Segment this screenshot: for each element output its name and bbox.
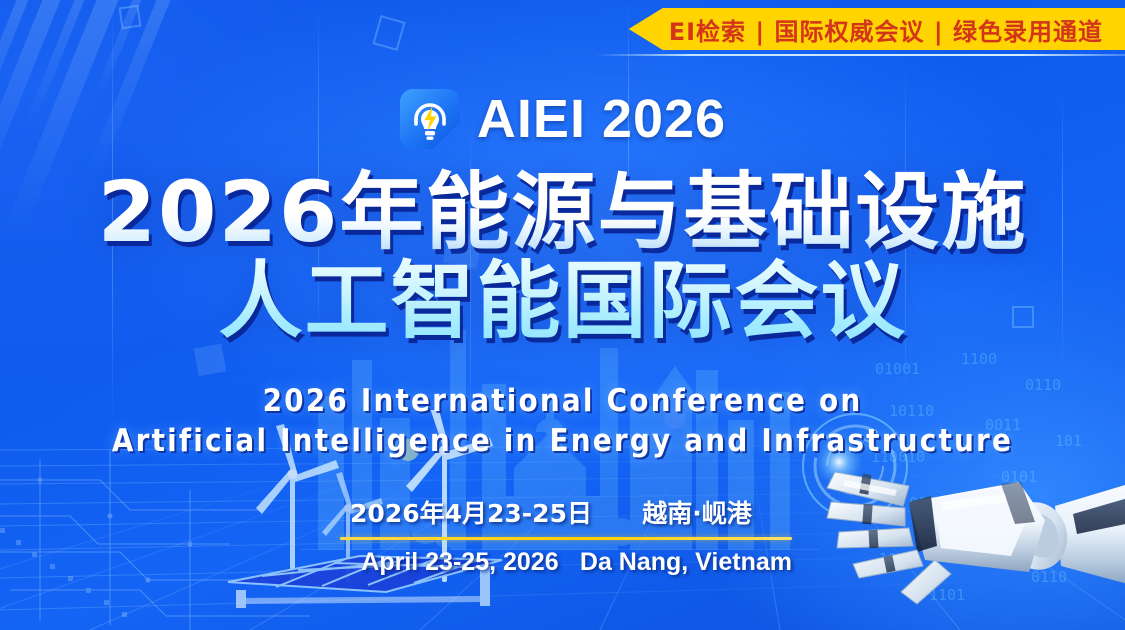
svg-text:1100: 1100 xyxy=(961,350,997,368)
ribbon-underline xyxy=(595,54,1125,56)
svg-text:01001: 01001 xyxy=(875,360,920,378)
place-en: Da Nang, Vietnam xyxy=(580,548,792,577)
decor-square-outline xyxy=(119,5,142,30)
headline-block: 2026年能源与基础设施 人工智能国际会议 xyxy=(0,168,1125,346)
brand-block: AIEI 2026 xyxy=(0,88,1125,150)
subtitle-line-2: Artificial Intelligence in Energy and In… xyxy=(0,422,1125,462)
date-cn: 2026年4月23-25日 xyxy=(340,494,602,530)
headline-line-2: 人工智能国际会议 xyxy=(0,257,1125,346)
conference-banner: 010011100 011010110 0011101 1100100101 0… xyxy=(0,0,1125,630)
decor-square-outline xyxy=(372,15,405,51)
lightbulb-target-bolt-icon xyxy=(399,88,461,150)
info-row-en: April 23-25, 2026 Da Nang, Vietnam xyxy=(340,548,792,577)
subtitle-line-1: 2026 International Conference on xyxy=(0,382,1125,422)
headline-line-1: 2026年能源与基础设施 xyxy=(0,168,1125,257)
info-divider xyxy=(340,537,792,540)
ribbon-text: EI检索 | 国际权威会议 | 绿色录用通道 xyxy=(669,12,1103,47)
info-row-cn: 2026年4月23-25日 越南·岘港 xyxy=(340,494,792,530)
subtitle-block: 2026 International Conference on Artific… xyxy=(0,382,1125,461)
date-en: April 23-25, 2026 xyxy=(340,548,580,577)
place-cn: 越南·岘港 xyxy=(602,494,792,530)
brand-title: AIEI 2026 xyxy=(477,92,726,146)
info-block: 2026年4月23-25日 越南·岘港 April 23-25, 2026 Da… xyxy=(340,494,792,577)
ribbon-badge: EI检索 | 国际权威会议 | 绿色录用通道 xyxy=(629,8,1125,50)
